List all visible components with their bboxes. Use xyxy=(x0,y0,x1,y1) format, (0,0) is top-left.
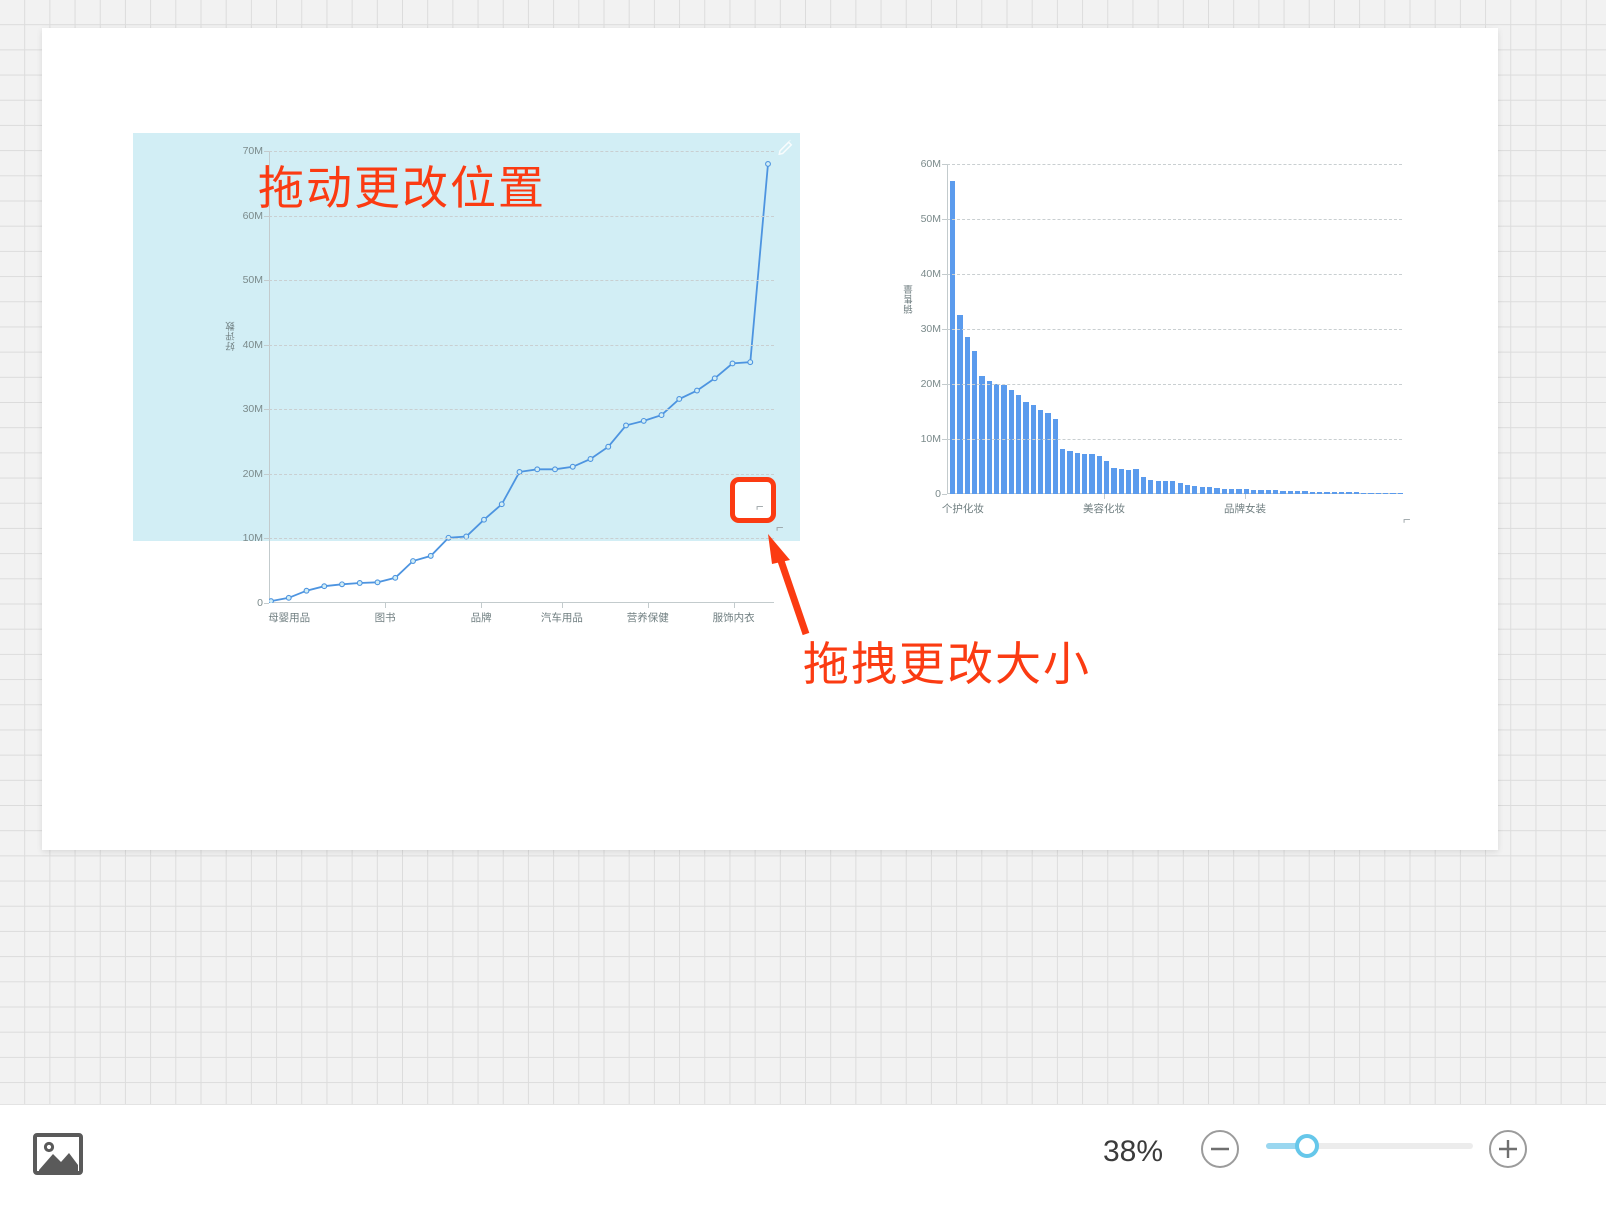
resize-corner-icon[interactable]: ⌐ xyxy=(756,500,764,513)
x-axis-tick-label: 服饰内衣 xyxy=(713,610,755,625)
y-axis-tick: 30M xyxy=(921,323,941,335)
gridline xyxy=(269,345,774,346)
bar xyxy=(979,376,984,494)
bar xyxy=(1229,489,1234,494)
y-axis-tick-mark xyxy=(264,474,269,475)
gridline xyxy=(947,274,1402,275)
bar xyxy=(1016,395,1021,494)
y-axis-tick: 10M xyxy=(243,532,263,544)
x-axis-tick-label: 母婴用品 xyxy=(268,610,310,625)
y-axis-tick: 40M xyxy=(921,268,941,280)
pencil-icon[interactable] xyxy=(777,137,795,155)
bar xyxy=(1097,456,1102,495)
x-axis-tick-label: 品牌女装 xyxy=(1224,501,1266,516)
gridline xyxy=(269,538,774,539)
bar xyxy=(1383,493,1388,494)
y-axis-tick-mark xyxy=(264,603,269,604)
x-axis-tick-mark xyxy=(562,603,563,608)
chart-card-bar[interactable]: 销售量 010M20M30M40M50M60M个护化妆美容化妆品牌女装 ⌐ xyxy=(897,146,1417,524)
gridline xyxy=(947,164,1402,165)
bar xyxy=(1053,419,1058,494)
y-axis-tick: 20M xyxy=(243,468,263,480)
resize-corner-icon[interactable]: ⌐ xyxy=(1403,513,1411,526)
y-axis-tick-mark xyxy=(942,384,947,385)
bar xyxy=(1200,487,1205,494)
y-axis-tick-mark xyxy=(942,274,947,275)
bar xyxy=(1273,490,1278,494)
bar xyxy=(1192,486,1197,494)
x-axis-tick-mark xyxy=(385,603,386,608)
bar xyxy=(1288,491,1293,494)
bar xyxy=(1295,491,1300,494)
y-axis-tick-mark xyxy=(264,409,269,410)
y-axis-tick: 30M xyxy=(243,403,263,415)
bar xyxy=(1170,481,1175,494)
bar xyxy=(1214,488,1219,494)
bar xyxy=(1324,492,1329,494)
x-axis-tick-label: 汽车用品 xyxy=(541,610,583,625)
bar xyxy=(1317,492,1322,494)
bar xyxy=(972,351,977,494)
x-axis-tick-mark xyxy=(734,603,735,608)
bar xyxy=(1156,481,1161,494)
bar xyxy=(1111,468,1116,494)
y-axis-tick: 40M xyxy=(243,339,263,351)
bar xyxy=(1376,493,1381,494)
gridline xyxy=(269,474,774,475)
x-axis-tick-label: 营养保健 xyxy=(627,610,669,625)
bar xyxy=(1141,477,1146,494)
bottom-toolbar: 38% xyxy=(0,1104,1606,1212)
y-axis-tick: 0 xyxy=(935,488,941,500)
bar xyxy=(1082,454,1087,494)
y-axis-tick-mark xyxy=(264,345,269,346)
y-axis-tick: 0 xyxy=(257,597,263,609)
line-y-axis-label: 好评数 xyxy=(225,321,239,351)
bar xyxy=(1089,454,1094,494)
canvas-background[interactable]: 好评数 010M20M30M40M50M60M70M母婴用品图书品牌汽车用品营养… xyxy=(0,0,1606,1105)
zoom-out-button[interactable] xyxy=(1199,1128,1241,1170)
bar xyxy=(1266,490,1271,494)
y-axis-tick: 10M xyxy=(921,433,941,445)
bar xyxy=(957,315,962,494)
x-axis-tick-mark xyxy=(1104,494,1105,499)
bar xyxy=(1185,485,1190,494)
bar xyxy=(1075,453,1080,494)
bar xyxy=(1280,491,1285,494)
bar xyxy=(1222,489,1227,495)
y-axis-tick: 50M xyxy=(243,274,263,286)
gridline xyxy=(947,439,1402,440)
x-axis-tick-label: 美容化妆 xyxy=(1083,501,1125,516)
bar xyxy=(1332,492,1337,494)
zoom-in-button[interactable] xyxy=(1487,1128,1529,1170)
gridline xyxy=(947,384,1402,385)
bar xyxy=(1310,492,1315,494)
line-plot-area: 好评数 010M20M30M40M50M60M70M母婴用品图书品牌汽车用品营养… xyxy=(269,151,774,603)
x-axis-tick-mark xyxy=(648,603,649,608)
bar xyxy=(1038,410,1043,494)
line-series xyxy=(269,151,774,603)
bar xyxy=(1390,493,1395,494)
bar-y-axis-label: 销售量 xyxy=(903,284,917,314)
zoom-slider[interactable] xyxy=(1266,1143,1473,1149)
bar xyxy=(1178,483,1183,494)
bar xyxy=(1119,469,1124,494)
y-axis-tick-mark xyxy=(942,219,947,220)
gridline xyxy=(947,219,1402,220)
x-axis-tick-label: 个护化妆 xyxy=(942,501,984,516)
bar xyxy=(1023,402,1028,494)
y-axis-tick-mark xyxy=(942,439,947,440)
x-axis-tick-label: 品牌 xyxy=(471,610,492,625)
bar xyxy=(1236,489,1241,494)
annotation-arrow xyxy=(760,530,840,640)
bar xyxy=(1368,493,1373,494)
gridline xyxy=(269,409,774,410)
bar xyxy=(1258,490,1263,494)
bar xyxy=(1045,413,1050,494)
bar xyxy=(1009,390,1014,495)
bar xyxy=(1346,492,1351,494)
bar xyxy=(950,181,955,495)
gridline xyxy=(269,280,774,281)
x-axis-tick-mark xyxy=(481,603,482,608)
bar xyxy=(1361,493,1366,494)
annotation-drag-to-resize: 拖拽更改大小 xyxy=(803,628,1091,694)
bar xyxy=(1133,469,1138,494)
bar xyxy=(965,337,970,494)
bar xyxy=(1148,480,1153,494)
y-axis-tick-mark xyxy=(942,494,947,495)
bar xyxy=(1163,481,1168,494)
bar xyxy=(1302,491,1307,494)
x-axis-tick-mark xyxy=(1245,494,1246,499)
y-axis-tick-mark xyxy=(942,329,947,330)
bar xyxy=(987,381,992,494)
bar xyxy=(1126,470,1131,494)
resize-handle-highlight[interactable]: ⌐ xyxy=(730,477,776,523)
y-axis-tick-mark xyxy=(264,538,269,539)
zoom-slider-knob[interactable] xyxy=(1295,1134,1319,1158)
bar xyxy=(1339,492,1344,494)
bar xyxy=(1251,490,1256,494)
y-axis-tick-mark xyxy=(942,164,947,165)
bar xyxy=(1067,451,1072,494)
y-axis-tick: 60M xyxy=(921,158,941,170)
y-axis-tick: 50M xyxy=(921,213,941,225)
y-axis-tick: 20M xyxy=(921,378,941,390)
image-icon[interactable] xyxy=(33,1133,83,1175)
zoom-level-label: 38% xyxy=(1103,1135,1189,1169)
bar xyxy=(1398,493,1403,494)
bar xyxy=(1354,492,1359,494)
annotation-drag-to-move: 拖动更改位置 xyxy=(258,152,546,218)
bar xyxy=(1031,405,1036,494)
bar xyxy=(1207,487,1212,494)
gridline xyxy=(947,329,1402,330)
bar xyxy=(1060,449,1065,494)
x-axis-tick-label: 图书 xyxy=(375,610,396,625)
bar xyxy=(1104,461,1109,494)
y-axis-tick-mark xyxy=(264,280,269,281)
bar-plot-area: 销售量 010M20M30M40M50M60M个护化妆美容化妆品牌女装 xyxy=(947,164,1402,494)
